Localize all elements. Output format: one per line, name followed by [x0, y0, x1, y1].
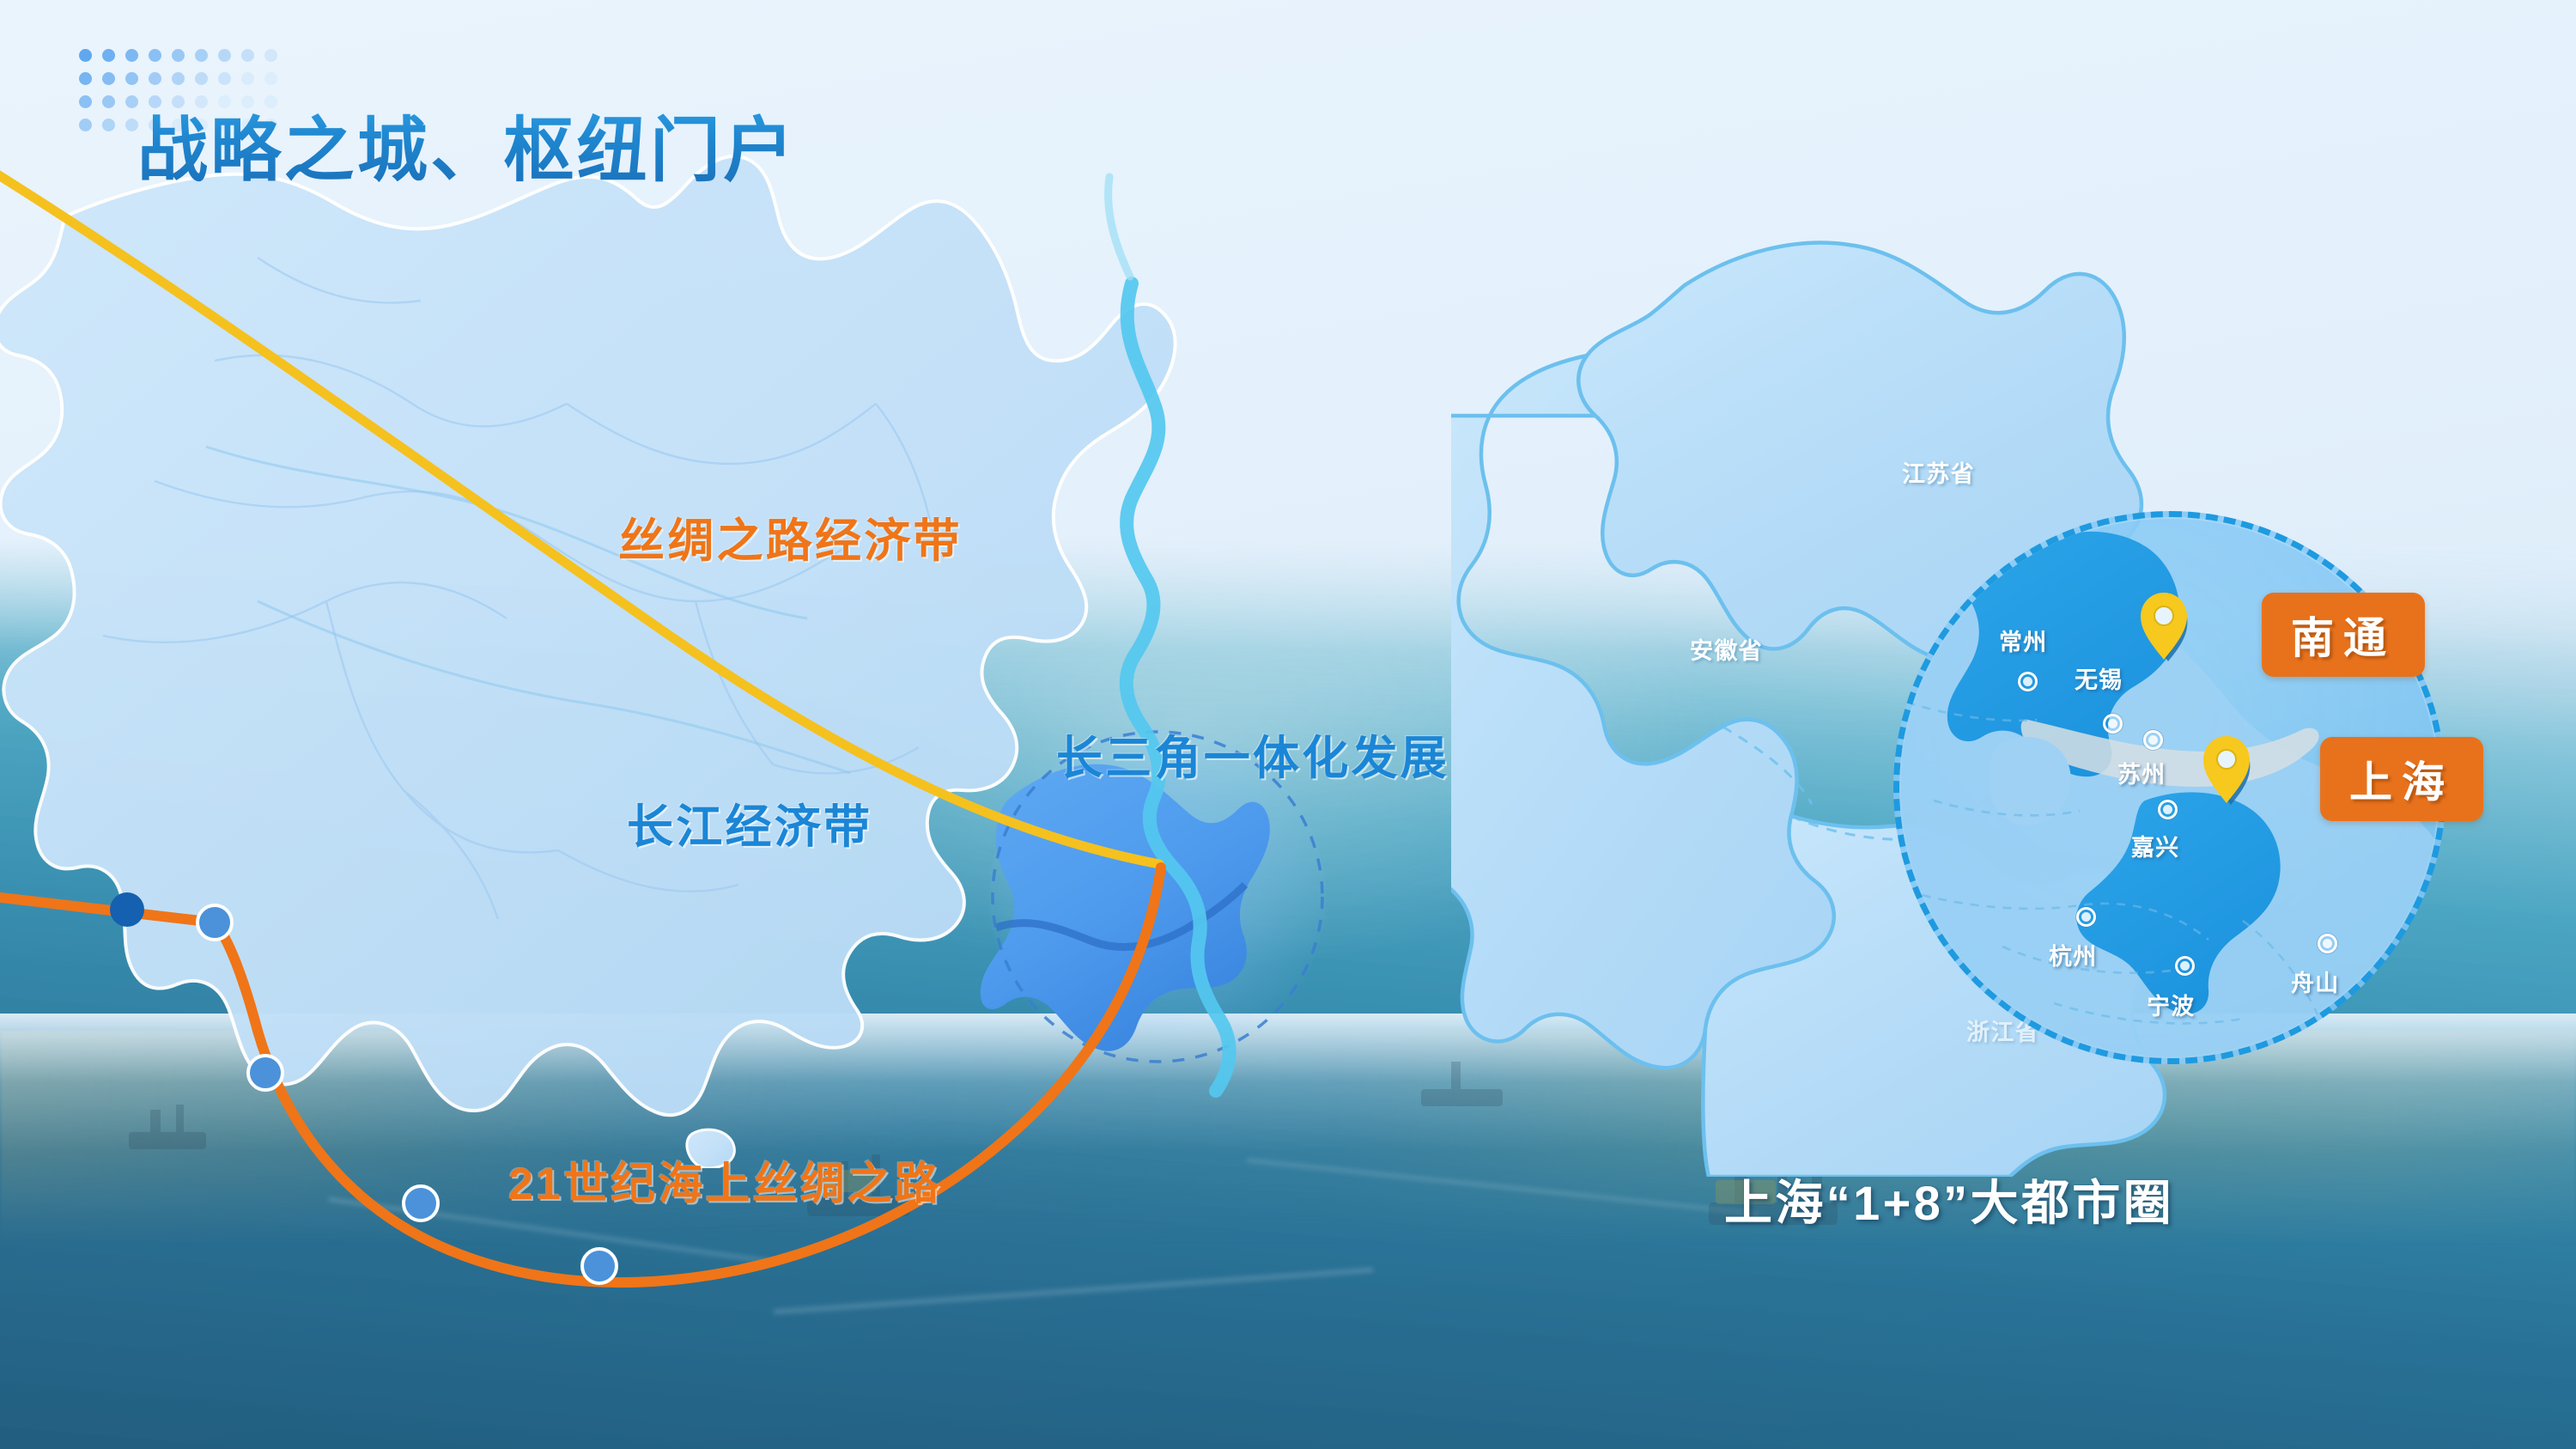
city-label-wuxi: 无锡 [2075, 661, 2123, 695]
city-dot-jiaxing [2158, 800, 2178, 819]
city-label-zhoushan: 舟山 [2291, 965, 2339, 998]
label-yangtze-economic-belt: 长江经济带 [627, 788, 872, 856]
decor-dot [125, 72, 138, 85]
label-maritime-silk-road: 21世纪海上丝绸之路 [508, 1148, 942, 1212]
label-silk-road-economic-belt: 丝绸之路经济带 [618, 502, 963, 570]
decor-dot [264, 49, 277, 62]
badge-shanghai[interactable]: 上海 [2320, 737, 2483, 821]
city-dot-wuxi [2103, 714, 2123, 734]
decor-dot [102, 49, 115, 62]
decor-dot [195, 72, 208, 85]
city-dot-wuxi-secondary [2143, 730, 2163, 750]
page-title: 战略之城、枢纽门户 [137, 93, 797, 195]
decor-dot [241, 72, 254, 85]
map-pin-nantong[interactable] [2137, 591, 2190, 663]
label-shanghai-metropolitan-circle: 上海“1+8”大都市圈 [1724, 1165, 2174, 1234]
city-label-jiaxing: 嘉兴 [2131, 829, 2179, 862]
badge-nantong[interactable]: 南通 [2262, 593, 2425, 677]
decor-dot [149, 49, 161, 62]
map-pin-shanghai[interactable] [2200, 734, 2253, 807]
decor-dot [79, 49, 92, 62]
decor-dot [102, 119, 115, 131]
decor-dot [79, 72, 92, 85]
decor-dot [264, 72, 277, 85]
decor-dot [172, 49, 185, 62]
decor-dot [195, 49, 208, 62]
decor-dot [79, 95, 92, 108]
decor-dot [79, 119, 92, 131]
city-label-ningbo: 宁波 [2147, 988, 2195, 1021]
decor-dot [102, 95, 115, 108]
decor-dot [172, 72, 185, 85]
city-dot-zhoushan [2318, 934, 2337, 953]
city-label-suzhou: 苏州 [2117, 756, 2166, 789]
city-dot-hangzhou [2076, 907, 2096, 927]
decor-dot [125, 49, 138, 62]
label-yangtze-delta-integration: 长三角一体化发展 [1056, 720, 1449, 788]
decor-dot [125, 119, 138, 131]
city-dot-changzhou [2018, 672, 2038, 691]
province-label-jiangsu: 江苏省 [1902, 455, 1975, 489]
city-label-hangzhou: 杭州 [2049, 938, 2097, 971]
decor-dot [102, 72, 115, 85]
infographic-canvas: 江苏省 安徽省 浙江省 [0, 0, 2576, 1449]
decor-dot [241, 49, 254, 62]
decor-dot [218, 72, 231, 85]
province-label-anhui: 安徽省 [1690, 632, 1763, 666]
decor-dot [218, 49, 231, 62]
city-dot-ningbo [2175, 956, 2195, 976]
decor-dot [125, 95, 138, 108]
city-label-changzhou: 常州 [1999, 624, 2047, 657]
decor-dot [149, 72, 161, 85]
